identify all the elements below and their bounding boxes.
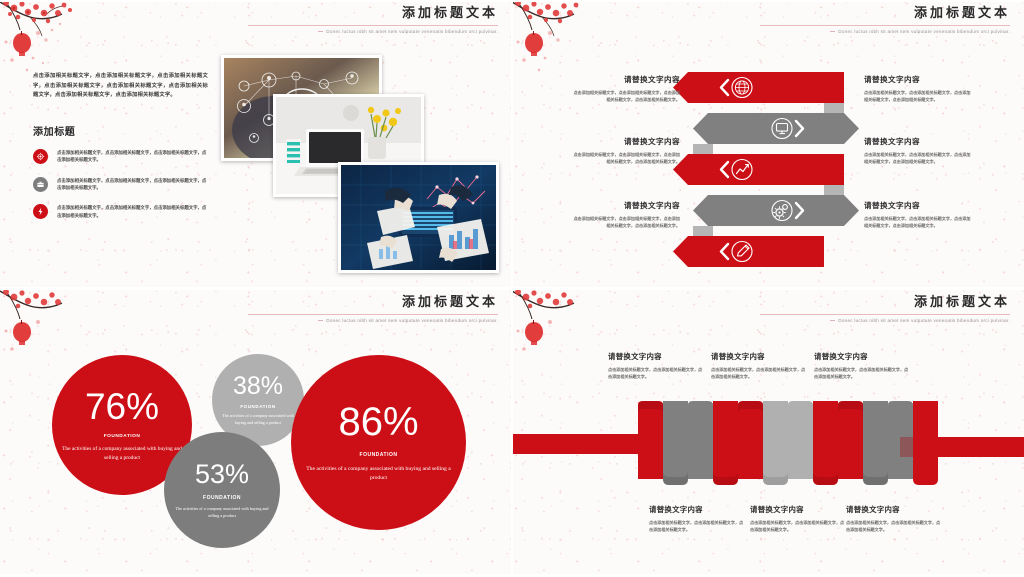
zigzag-title: 请替换文字内容 [649,504,745,515]
ribbon-fold-5 [738,401,763,479]
ribbon-body: 点击添加相关标题文字，点击添加相关标题文字，点击添加相关标题文字，点击添加相关标… [572,89,680,103]
slide1-content: 点击添加相关标题文字，点击添加相关标题文字，点击添加相关标题文字，点击添加相关标… [33,72,208,232]
ribbon-fold-4 [713,401,738,485]
stat-percent: 76% [85,388,159,425]
slide-1: 添加标题文本 Donec luctus nibh sit amet sem vu… [0,0,512,288]
photo-collage [218,52,508,272]
zigzag-title: 请替换文字内容 [846,504,942,515]
page-subtitle: Donec luctus nibh sit amet sem vulputate… [248,29,498,34]
zigzag-label-bottom-2: 请替换文字内容 点击添加相关标题文字，点击添加相关标题文字，点击添加相关标题文字… [750,504,846,533]
page-title: 添加标题文本 [248,6,498,22]
ribbon-title: 请替换文字内容 [864,136,972,147]
ribbon-fold-7 [788,401,813,479]
zigzag-label-top-3: 请替换文字内容 点击添加相关标题文字，点击添加相关标题文字，点击添加相关标题文字… [814,351,910,380]
slide-4: 添加标题文本 Donec luctus nibh sit amet sem vu… [512,289,1024,577]
header-divider [248,314,498,315]
intro-paragraph: 点击添加相关标题文字，点击添加相关标题文字，点击添加相关标题文字，点击添加相关标… [33,72,208,101]
ribbon-title: 请替换文字内容 [864,200,972,211]
ribbon-row-1 [673,72,844,113]
zigzag-label-bottom-1: 请替换文字内容 点击添加相关标题文字，点击添加相关标题文字，点击添加相关标题文字… [649,504,745,533]
ribbon-label-2: 请替换文字内容 点击添加相关标题文字，点击添加相关标题文字，点击添加相关标题文字… [864,74,972,103]
stat-label: FOUNDATION [240,404,275,409]
ribbon-body: 点击添加相关标题文字，点击添加相关标题文字，点击添加相关标题文字，点击添加相关标… [864,89,972,103]
slide-header: 添加标题文本 Donec luctus nibh sit amet sem vu… [248,295,498,323]
zigzag-body: 点击添加相关标题文字，点击添加相关标题文字，点击添加相关标题文字。 [750,519,846,533]
zigzag-label-top-2: 请替换文字内容 点击添加相关标题文字，点击添加相关标题文字，点击添加相关标题文字… [711,351,807,380]
ribbon-title: 请替换文字内容 [864,74,972,85]
ribbon-fold-10 [863,401,888,485]
feature-list: 点击添加相关标题文字，点击添加相关标题文字，点击添加相关标题文字，点击添加相关标… [33,149,208,220]
stat-label: FOUNDATION [360,452,398,458]
stat-desc: The activities of a company associated w… [300,465,457,483]
ribbon-label-5: 请替换文字内容 点击添加相关标题文字，点击添加相关标题文字，点击添加相关标题文字… [572,200,680,229]
target-icon [33,149,48,164]
ribbon-fold-1 [638,401,663,479]
globe-icon [732,78,752,98]
stat-percent: 38% [233,374,283,399]
stat-circle-86[interactable]: 86% FOUNDATION The activities of a compa… [291,355,466,530]
zigzag-label-bottom-3: 请替换文字内容 点击添加相关标题文字，点击添加相关标题文字，点击添加相关标题文字… [846,504,942,533]
photo-business-meeting [338,162,499,273]
ribbon-row-2 [693,113,859,154]
zigzag-label-top-1: 请替换文字内容 点击添加相关标题文字，点击添加相关标题文字，点击添加相关标题文字… [608,351,704,380]
page-subtitle: Donec luctus nibh sit amet sem vulputate… [760,29,1010,34]
page-title: 添加标题文本 [248,295,498,311]
ribbon-label-3: 请替换文字内容 点击添加相关标题文字，点击添加相关标题文字，点击添加相关标题文字… [572,136,680,165]
ribbon-title: 请替换文字内容 [572,200,680,211]
page-subtitle: Donec luctus nibh sit amet sem vulputate… [760,318,1010,323]
list-item-text: 点击添加相关标题文字，点击添加相关标题文字，点击添加相关标题文字，点击添加相关标… [57,149,208,165]
zigzag-body: 点击添加相关标题文字，点击添加相关标题文字，点击添加相关标题文字。 [608,366,704,380]
ribbon-body: 点击添加相关标题文字，点击添加相关标题文字，点击添加相关标题文字，点击添加相关标… [864,151,972,165]
stat-label: FOUNDATION [203,495,241,501]
slide-header: 添加标题文本 Donec luctus nibh sit amet sem vu… [760,295,1010,323]
ribbon-title: 请替换文字内容 [572,74,680,85]
slide-header: 添加标题文本 Donec luctus nibh sit amet sem vu… [248,6,498,34]
stat-percent: 86% [338,402,418,442]
slide-3: 添加标题文本 Donec luctus nibh sit amet sem vu… [0,289,512,577]
slide-header: 添加标题文本 Donec luctus nibh sit amet sem vu… [760,6,1010,34]
ribbon-row-5 [673,236,824,267]
list-item[interactable]: 点击添加相关标题文字，点击添加相关标题文字，点击添加相关标题文字，点击添加相关标… [33,204,208,220]
sheet-edge-top [0,0,1024,2]
stat-desc: The activities of a company associated w… [61,445,183,462]
zigzag-body: 点击添加相关标题文字，点击添加相关标题文字，点击添加相关标题文字。 [711,366,807,380]
stat-desc: The activities of a company associated w… [221,413,295,426]
stat-circle-53[interactable]: 53% FOUNDATION The activities of a compa… [164,432,280,548]
header-divider [248,25,498,26]
ribbon-fold-9 [838,401,863,479]
stat-desc: The activities of a company associated w… [173,505,271,519]
list-item[interactable]: 点击添加相关标题文字，点击添加相关标题文字，点击添加相关标题文字，点击添加相关标… [33,149,208,165]
ribbon-row-3 [673,154,844,195]
zigzag-title: 请替换文字内容 [814,351,910,362]
zigzag-title: 请替换文字内容 [750,504,846,515]
page-title: 添加标题文本 [760,6,1010,22]
zigzag-body: 点击添加相关标题文字，点击添加相关标题文字，点击添加相关标题文字。 [649,519,745,533]
section-title: 添加标题 [33,123,208,138]
briefcase-icon [33,177,48,192]
slide-deck-sheet: 添加标题文本 Donec luctus nibh sit amet sem vu… [0,0,1024,577]
slide-2: 添加标题文本 Donec luctus nibh sit amet sem vu… [512,0,1024,288]
ribbon-body: 点击添加相关标题文字，点击添加相关标题文字，点击添加相关标题文字，点击添加相关标… [572,151,680,165]
list-item-text: 点击添加相关标题文字，点击添加相关标题文字，点击添加相关标题文字，点击添加相关标… [57,204,208,220]
header-divider [760,314,1010,315]
page-title: 添加标题文本 [760,295,1010,311]
ribbon-fold-3 [688,401,713,479]
stat-label: FOUNDATION [104,434,141,439]
ribbon-tail-right [913,437,1024,457]
page-subtitle: Donec luctus nibh sit amet sem vulputate… [248,318,498,323]
zigzag-ribbon-diagram [512,289,1024,577]
zigzag-title: 请替换文字内容 [608,351,704,362]
ribbon-label-6: 请替换文字内容 点击添加相关标题文字，点击添加相关标题文字，点击添加相关标题文字… [864,200,972,229]
ribbon-label-4: 请替换文字内容 点击添加相关标题文字，点击添加相关标题文字，点击添加相关标题文字… [864,136,972,165]
ribbon-title: 请替换文字内容 [572,136,680,147]
header-divider [760,25,1010,26]
ribbon-fold-2 [663,401,688,485]
stat-percent: 53% [195,461,249,488]
zigzag-title: 请替换文字内容 [711,351,807,362]
ribbon-fold-8 [813,401,838,485]
list-item[interactable]: 点击添加相关标题文字，点击添加相关标题文字，点击添加相关标题文字，点击添加相关标… [33,177,208,193]
ribbon-label-1: 请替换文字内容 点击添加相关标题文字，点击添加相关标题文字，点击添加相关标题文字… [572,74,680,103]
ribbon-body: 点击添加相关标题文字，点击添加相关标题文字，点击添加相关标题文字，点击添加相关标… [864,215,972,229]
ribbon-fold-6 [763,401,788,485]
list-item-text: 点击添加相关标题文字，点击添加相关标题文字，点击添加相关标题文字，点击添加相关标… [57,177,208,193]
bolt-icon [33,204,48,219]
slide-gutter-horizontal [0,287,1024,290]
ribbon-body: 点击添加相关标题文字，点击添加相关标题文字，点击添加相关标题文字，点击添加相关标… [572,215,680,229]
zigzag-body: 点击添加相关标题文字，点击添加相关标题文字，点击添加相关标题文字。 [846,519,942,533]
ribbon-tail-left [512,434,638,454]
zigzag-body: 点击添加相关标题文字，点击添加相关标题文字，点击添加相关标题文字。 [814,366,910,380]
plum-blossom-decoration [0,289,86,385]
